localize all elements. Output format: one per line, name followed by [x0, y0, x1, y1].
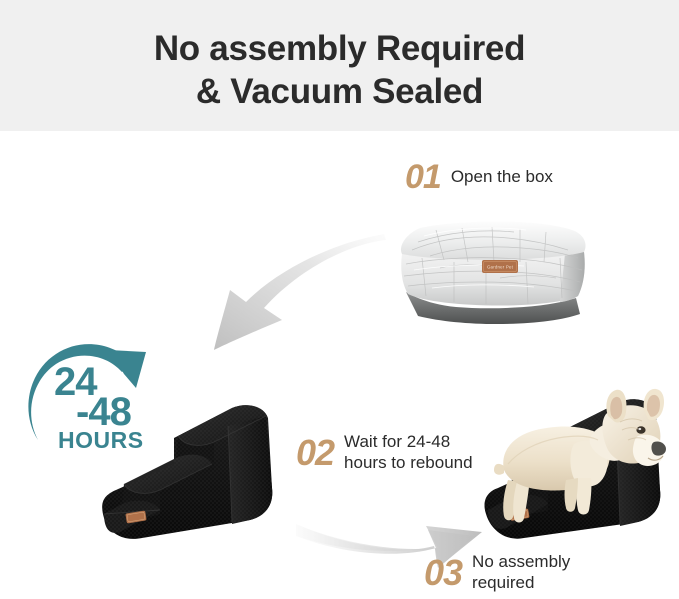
step-open-the-box: 01 Open the box — [405, 160, 553, 194]
page-title-line-2: & Vacuum Sealed — [0, 71, 679, 114]
step-label-01: Open the box — [451, 167, 553, 188]
step-number-02: 02 — [296, 435, 334, 471]
step-number-01: 01 — [405, 160, 441, 194]
package-brand-label-text: Gardner Pet — [487, 265, 514, 270]
step-wait-to-rebound: 02 Wait for 24-48 hours to rebound — [296, 432, 473, 473]
infographic-canvas: No assembly Required & Vacuum Sealed 01 … — [0, 0, 679, 599]
pet-stairs-image — [82, 392, 302, 547]
step-no-assembly-required: 03 No assembly required — [424, 552, 570, 593]
vacuum-sealed-package-image: Gardner Pet — [396, 218, 592, 330]
dog-on-pet-stairs-image — [478, 378, 678, 553]
page-title: No assembly Required & Vacuum Sealed — [0, 28, 679, 113]
page-title-line-1: No assembly Required — [0, 28, 679, 71]
arrow-package-to-stairs-shape — [214, 234, 386, 350]
package-brand-label: Gardner Pet — [482, 260, 518, 273]
step-label-03: No assembly required — [472, 552, 570, 593]
arrow-package-to-stairs — [178, 228, 388, 350]
step-label-02: Wait for 24-48 hours to rebound — [344, 432, 473, 473]
step-number-03: 03 — [424, 555, 462, 591]
